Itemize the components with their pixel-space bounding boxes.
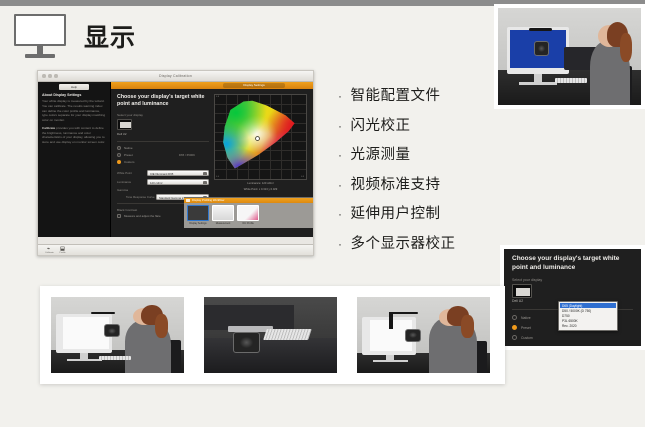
footer-icon-label: Calibrate — [45, 252, 52, 254]
bullet-text: 光源测量 — [351, 143, 411, 164]
mini-mode-label: Native — [521, 316, 531, 320]
radio-icon[interactable] — [512, 315, 517, 320]
bullet-item: · 延伸用户控制 — [338, 202, 508, 223]
radio-icon[interactable] — [512, 335, 517, 340]
mode-label: Preset — [124, 153, 133, 157]
monitor-icon — [14, 14, 66, 58]
feature-bullet-list: · 智能配置文件 · 闪光校正 · 光源测量 · 视频标准支持 · 延伸用户控制… — [338, 84, 508, 261]
footer-icon-profile[interactable]: ⬓ Profile — [59, 246, 66, 254]
mini-mode-label: Custom — [521, 336, 533, 340]
bullet-item: · 闪光校正 — [338, 114, 508, 135]
field-luminance[interactable]: Luminance 120 cd/m² — [117, 179, 209, 185]
form-heading: Choose your display's target white point… — [117, 94, 209, 108]
field-label: Luminance — [117, 180, 147, 184]
y-axis-tick: 0.8 — [216, 96, 219, 98]
footer-icon-label: Profile — [59, 252, 66, 254]
sidebar-paragraph-1: Your white display is measured by the wi… — [42, 99, 106, 123]
mini-dialog-heading: Choose your display's target white point… — [512, 255, 633, 273]
display-thumbnail[interactable] — [117, 119, 132, 130]
y-axis-tick: 0.0 — [216, 176, 219, 178]
checkbox-icon[interactable] — [117, 214, 121, 218]
chart-caption-whitepoint: White Point: x 0.313 y 0.329 — [214, 188, 307, 192]
field-label: White Point — [117, 171, 147, 175]
bullet-marker: · — [338, 149, 343, 161]
field-white-point[interactable]: White Point CIE Illuminant D65 — [117, 170, 209, 176]
photo-woman-placing-colorimeter — [357, 297, 490, 373]
filmstrip-thumbnail[interactable] — [187, 205, 209, 221]
mode-label: Custom — [124, 160, 134, 164]
bullet-text: 视频标准支持 — [351, 173, 441, 194]
field-label: Tone Response Curve — [126, 195, 156, 199]
app-titlebar-title: Display Calibration — [38, 74, 313, 78]
bullet-text: 智能配置文件 — [351, 84, 441, 105]
page-title: 显示 — [84, 18, 136, 54]
white-point-select[interactable]: CIE Illuminant D65 — [147, 170, 209, 176]
bullet-marker: · — [338, 208, 343, 220]
display-name: Dell U2 — [117, 132, 209, 136]
filmstrip-caption: ICC Profile — [237, 222, 259, 225]
bullet-marker: · — [338, 120, 343, 132]
mode-option-native[interactable]: Native — [117, 146, 209, 150]
bullet-item: · 智能配置文件 — [338, 84, 508, 105]
radio-icon[interactable] — [512, 325, 517, 330]
dropdown-option[interactable]: Rec. 2020 — [560, 324, 616, 329]
divider — [117, 141, 209, 142]
mini-dialog: Choose your display's target white point… — [504, 249, 641, 346]
bullet-marker: · — [338, 90, 343, 102]
bullet-item: · 视频标准支持 — [338, 173, 508, 194]
chart-caption-luminance: Luminance: 120 cd/m² — [214, 182, 307, 186]
mode-option-custom[interactable]: Custom — [117, 160, 209, 164]
toolbar-step-label: Display Settings — [223, 83, 285, 88]
sidebar-paragraph-2: Calibrate provides you with content to d… — [42, 126, 106, 145]
mini-display-thumbnail[interactable] — [512, 284, 532, 298]
sidebar-heading: About Display Settings — [42, 93, 107, 97]
select-display-label: Select your display — [117, 113, 209, 117]
filmstrip-caption: Measurement — [212, 222, 234, 225]
x-axis-tick: 0.8 — [301, 176, 304, 178]
white-point-marker — [256, 137, 259, 140]
filmstrip-thumbnail[interactable] — [237, 205, 259, 221]
mode-label: Native — [124, 146, 133, 150]
mini-select-display-label: Select your display — [512, 278, 633, 282]
radio-icon[interactable] — [117, 146, 121, 150]
filmstrip-item-display-settings[interactable]: Display Settings — [187, 205, 209, 225]
filmstrip-thumbnail[interactable] — [212, 205, 234, 221]
slide-header: 显示 — [14, 14, 136, 58]
app-window-screenshot: Display Calibration Help About Display S… — [37, 70, 314, 256]
bullet-item: · 光源测量 — [338, 143, 508, 164]
app-footer-dock: ⌁ Calibrate ⬓ Profile — [38, 244, 313, 255]
bullet-marker: · — [338, 179, 343, 191]
filmstrip-item-measurement[interactable]: Measurement — [212, 205, 234, 225]
photo-woman-at-imac — [494, 4, 645, 109]
radio-icon[interactable] — [117, 160, 121, 164]
mode-option-preset[interactable]: Preset D65 / 6500K — [117, 153, 209, 157]
sidebar-help-tab[interactable]: Help — [59, 84, 89, 90]
bullet-text: 闪光校正 — [351, 114, 411, 135]
measure-flare-label: Measure and adjust the flare — [124, 214, 161, 218]
filmstrip-item-icc-profile[interactable]: ICC Profile — [237, 205, 259, 225]
app-sidebar: Help About Display Settings Your white d… — [38, 82, 111, 237]
bullet-text: 多个显示器校正 — [351, 232, 456, 253]
white-point-dropdown-popup[interactable]: D65 (Daylight) D50 / 5000K (D 750) D750 … — [558, 301, 618, 331]
filmstrip-caption: Display Settings — [187, 222, 209, 225]
footer-icon-calibrate[interactable]: ⌁ Calibrate — [45, 246, 52, 254]
bullet-text: 延伸用户控制 — [351, 202, 441, 223]
workflow-filmstrip: Display Profiling Workflow Display Setti… — [184, 197, 313, 228]
luminance-select[interactable]: 120 cd/m² — [147, 179, 209, 185]
mini-mode-custom[interactable]: Custom — [512, 335, 633, 340]
chart-plot-area: 0.8 0.0 0.8 — [214, 94, 307, 180]
gamma-label: Gamma — [117, 188, 209, 192]
bullet-marker: · — [338, 238, 343, 250]
bullet-item: · 多个显示器校正 — [338, 232, 508, 253]
mode-value: D65 / 6500K — [179, 153, 209, 157]
app-body: Help About Display Settings Your white d… — [38, 82, 313, 237]
app-titlebar: Display Calibration — [38, 71, 313, 82]
mini-mode-label: Preset — [521, 326, 531, 330]
sidebar-paragraph-2-lead: Calibrate — [42, 126, 55, 130]
radio-icon[interactable] — [117, 153, 121, 157]
photo-colorimeter-closeup — [204, 297, 337, 373]
photo-dialog-closeup: Choose your display's target white point… — [500, 245, 645, 350]
app-main-panel: Display Settings Choose your display's t… — [111, 82, 313, 237]
app-toolbar: Display Settings — [111, 82, 313, 89]
photo-woman-holding-colorimeter — [51, 297, 184, 373]
filmstrip-header: Display Profiling Workflow — [184, 198, 313, 203]
